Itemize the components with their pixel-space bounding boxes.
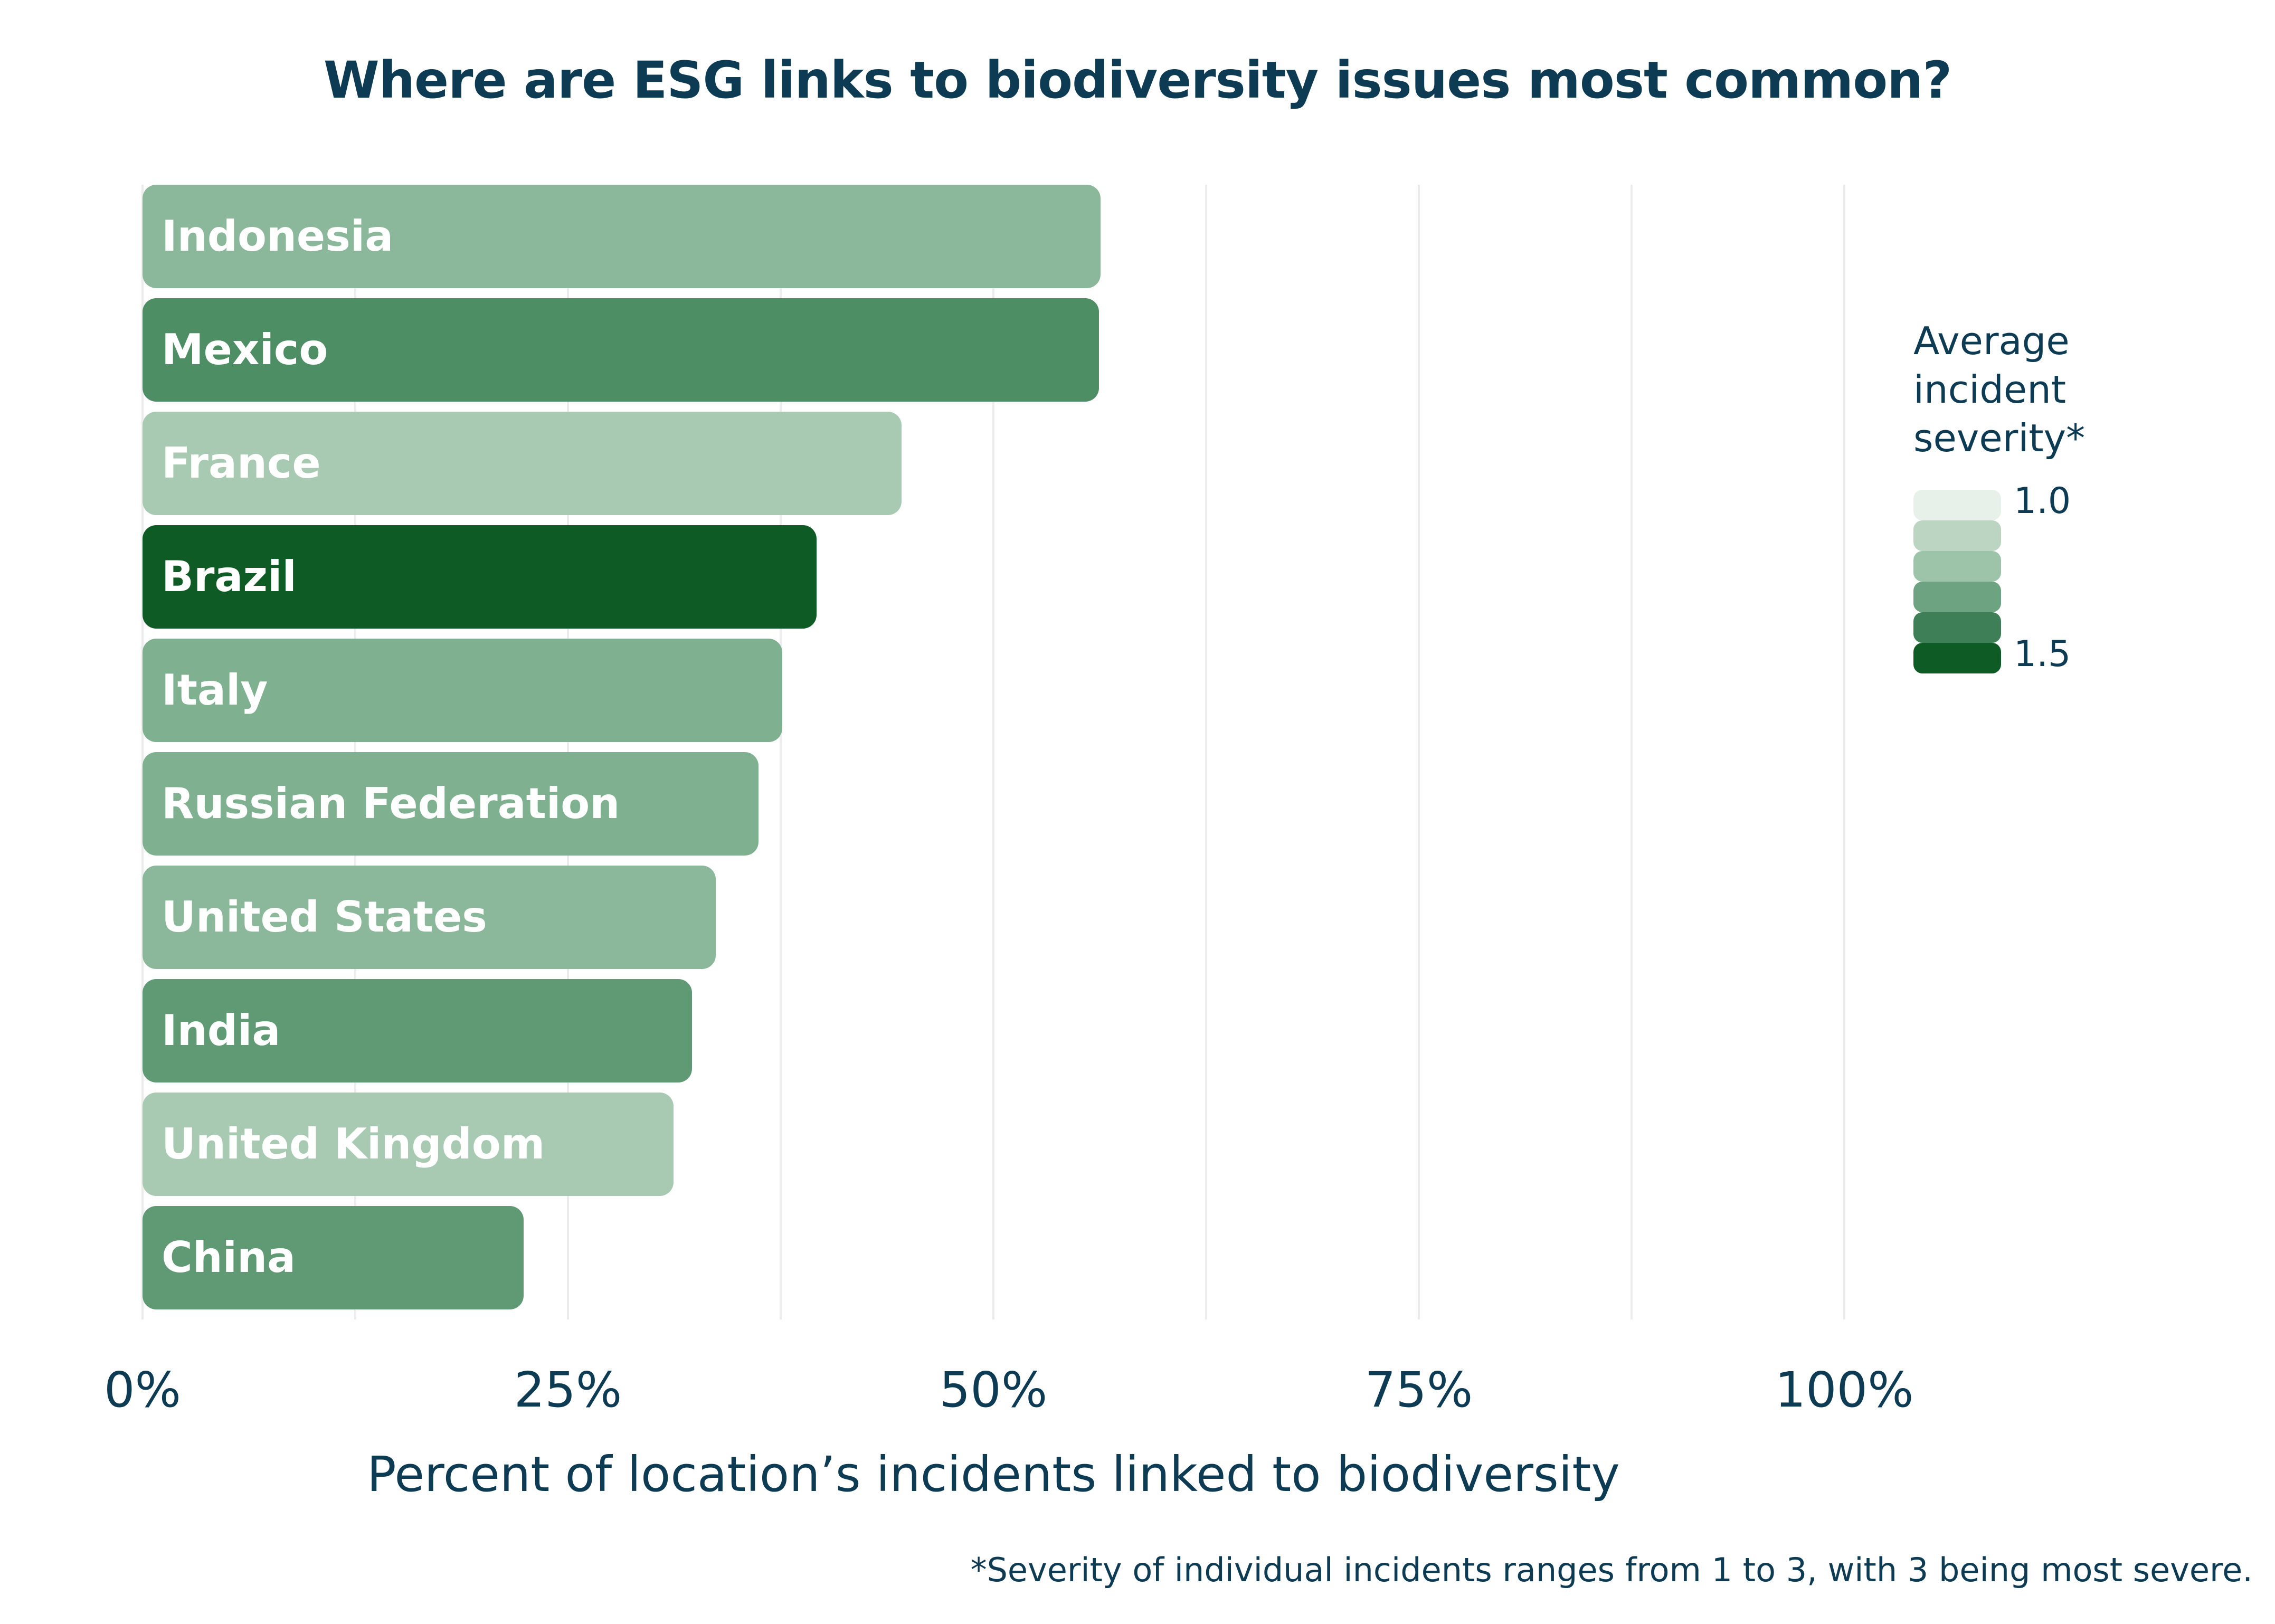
- legend-swatch: [1913, 490, 2001, 520]
- bar-label: Mexico: [162, 298, 328, 402]
- legend-swatch: [1913, 551, 2001, 582]
- x-tick-label: 100%: [1775, 1362, 1913, 1418]
- plot-area: IndonesiaMexicoFranceBrazilItalyRussian …: [143, 185, 1844, 1319]
- legend-swatch: [1913, 612, 2001, 643]
- page-title: Where are ESG links to biodiversity issu…: [0, 51, 2275, 110]
- legend-swatch: [1913, 643, 2001, 673]
- legend-entry: 1.0: [1913, 490, 2251, 520]
- bar-label: India: [162, 979, 280, 1082]
- bar-label: Indonesia: [162, 185, 393, 288]
- chart-page: { "title": "Where are ESG links to biodi…: [0, 0, 2275, 1624]
- x-tick-label: 50%: [940, 1362, 1047, 1418]
- legend-min-label: 1.0: [2014, 480, 2071, 522]
- bar-row[interactable]: China: [143, 1206, 1844, 1309]
- legend-swatch: [1913, 582, 2001, 612]
- x-tick-label: 25%: [514, 1362, 622, 1418]
- legend-entry: [1913, 520, 2251, 551]
- bar-row[interactable]: United Kingdom: [143, 1093, 1844, 1196]
- bar-label: China: [162, 1206, 296, 1309]
- legend-title-line-2: incident: [1913, 365, 2251, 414]
- x-axis-title: Percent of location’s incidents linked t…: [143, 1446, 1844, 1503]
- legend-max-label: 1.5: [2014, 633, 2071, 675]
- legend-entry: [1913, 551, 2251, 582]
- legend-colorbar: 1.01.5: [1913, 490, 2251, 673]
- bar-row[interactable]: Indonesia: [143, 185, 1844, 288]
- bar-row[interactable]: United States: [143, 866, 1844, 969]
- x-tick-label: 75%: [1365, 1362, 1473, 1418]
- x-axis-tick-labels: 0%25%50%75%100%: [0, 1362, 2275, 1430]
- legend-swatch: [1913, 520, 2001, 551]
- legend-title-line-3: severity*: [1913, 414, 2251, 462]
- legend: Average incident severity* 1.01.5: [1913, 317, 2251, 673]
- bar-row[interactable]: France: [143, 412, 1844, 515]
- bar-row[interactable]: Brazil: [143, 525, 1844, 629]
- bar-row[interactable]: Italy: [143, 639, 1844, 742]
- bar-label: Brazil: [162, 525, 297, 629]
- legend-entry: [1913, 582, 2251, 612]
- legend-title: Average incident severity*: [1913, 317, 2251, 462]
- bar-label: France: [162, 412, 321, 515]
- bar-row[interactable]: Russian Federation: [143, 752, 1844, 856]
- bar-label: United Kingdom: [162, 1093, 545, 1196]
- bar-row[interactable]: India: [143, 979, 1844, 1082]
- footnote: *Severity of individual incidents ranges…: [971, 1551, 2253, 1589]
- x-tick-label: 0%: [104, 1362, 181, 1418]
- bar-label: Italy: [162, 639, 268, 742]
- bar-row[interactable]: Mexico: [143, 298, 1844, 402]
- legend-entry: [1913, 612, 2251, 643]
- legend-entry: 1.5: [1913, 643, 2251, 673]
- legend-title-line-1: Average: [1913, 317, 2251, 365]
- bar-label: United States: [162, 866, 487, 969]
- bar-label: Russian Federation: [162, 752, 620, 856]
- bar-series: IndonesiaMexicoFranceBrazilItalyRussian …: [143, 185, 1844, 1319]
